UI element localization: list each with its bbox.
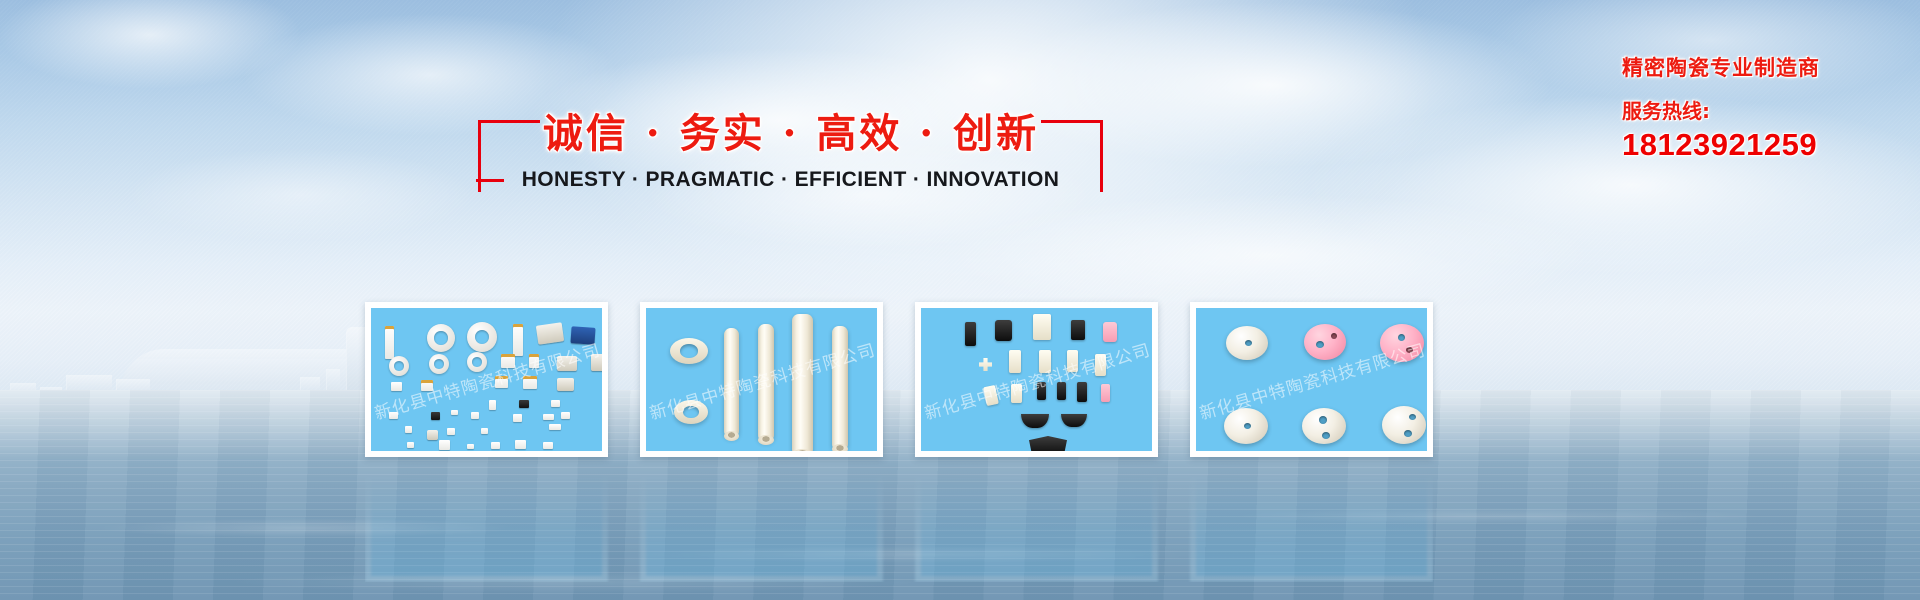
hotline-label: 服务热线:: [1622, 95, 1872, 124]
panel-ceramic-discs[interactable]: 新化县中特陶瓷科技有限公司: [1190, 302, 1433, 457]
company-tagline: 精密陶瓷专业制造商: [1622, 52, 1872, 82]
panel-image: [371, 308, 602, 451]
slogan-english-row: HONESTY · PRAGMATIC · EFFICIENT · INNOVA…: [476, 168, 1105, 192]
panel-image: [646, 308, 877, 451]
product-panel-row: 新化县中特陶瓷科技有限公司 新化县中特陶瓷科技有限公司: [365, 302, 1433, 457]
slogan-chinese: 诚信 · 务实 · 高效 · 创新: [540, 108, 1042, 160]
panel-image: [1196, 308, 1427, 451]
horizontal-rule-icon: [476, 179, 504, 182]
panel-smd-ceramic-components[interactable]: 新化县中特陶瓷科技有限公司: [365, 302, 608, 457]
water-ripples: [0, 480, 1920, 600]
panel-ceramic-blocks-arcs[interactable]: 新化县中特陶瓷科技有限公司: [915, 302, 1158, 457]
panel-image: [921, 308, 1152, 451]
slogan-english: HONESTY · PRAGMATIC · EFFICIENT · INNOVA…: [514, 168, 1067, 192]
hotline-number[interactable]: 18123921259: [1622, 127, 1872, 163]
promotional-banner: 诚信 · 务实 · 高效 · 创新 HONESTY · PRAGMATIC · …: [0, 0, 1920, 600]
panel-ceramic-tubes-rings[interactable]: 新化县中特陶瓷科技有限公司: [640, 302, 883, 457]
contact-block: 精密陶瓷专业制造商 服务热线: 18123921259: [1622, 52, 1872, 163]
slogan-block: 诚信 · 务实 · 高效 · 创新 HONESTY · PRAGMATIC · …: [478, 108, 1103, 204]
